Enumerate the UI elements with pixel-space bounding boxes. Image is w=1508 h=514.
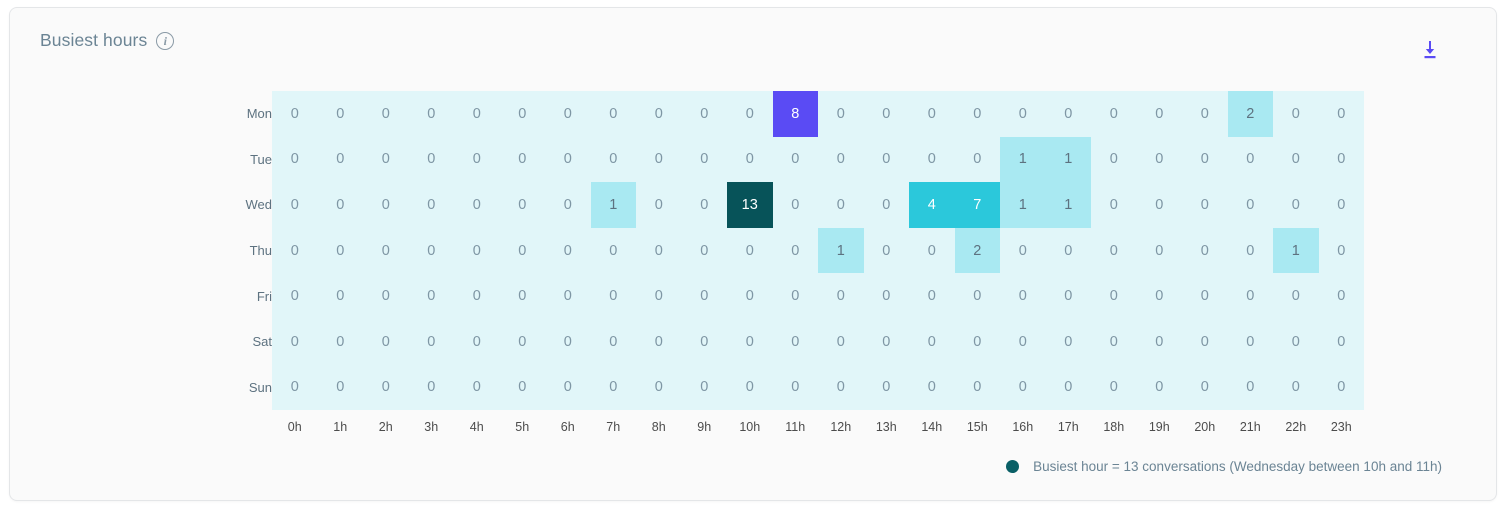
heatmap-cell[interactable]: 1 <box>591 182 637 228</box>
heatmap-row: Sat000000000000000000000000 <box>222 319 1364 365</box>
heatmap-cell[interactable]: 0 <box>682 182 728 228</box>
heatmap-cell[interactable]: 0 <box>636 365 682 411</box>
heatmap-cell[interactable]: 2 <box>1228 91 1274 137</box>
heatmap-cell[interactable]: 0 <box>363 319 409 365</box>
heatmap-cell[interactable]: 0 <box>864 228 910 274</box>
heatmap-cell[interactable]: 0 <box>682 273 728 319</box>
heatmap-cell[interactable]: 0 <box>682 365 728 411</box>
heatmap-cell[interactable]: 0 <box>545 273 591 319</box>
heatmap-cell[interactable]: 0 <box>1228 182 1274 228</box>
heatmap-cell[interactable]: 0 <box>1091 273 1137 319</box>
x-axis-tick-3h: 3h <box>409 410 455 444</box>
heatmap-cell[interactable]: 0 <box>1046 273 1092 319</box>
heatmap-cell[interactable]: 0 <box>1319 91 1365 137</box>
heatmap-cell[interactable]: 0 <box>727 91 773 137</box>
x-axis-tick-12h: 12h <box>818 410 864 444</box>
heatmap-cell[interactable]: 1 <box>1000 137 1046 183</box>
heatmap-cell[interactable]: 0 <box>1273 137 1319 183</box>
x-axis-tick-7h: 7h <box>591 410 637 444</box>
heatmap-cell[interactable]: 0 <box>682 91 728 137</box>
heatmap-cell[interactable]: 0 <box>1137 365 1183 411</box>
heatmap-cell[interactable]: 0 <box>955 319 1001 365</box>
heatmap-cell[interactable]: 0 <box>864 319 910 365</box>
heatmap-cell[interactable]: 0 <box>272 319 318 365</box>
legend-dot-icon <box>1006 460 1019 473</box>
heatmap-cell[interactable]: 0 <box>1182 182 1228 228</box>
heatmap-cell[interactable]: 0 <box>1273 319 1319 365</box>
legend-label: Busiest hour = 13 conversations (Wednesd… <box>1033 459 1442 474</box>
heatmap-cell[interactable]: 0 <box>1273 365 1319 411</box>
x-axis-tick-23h: 23h <box>1319 410 1365 444</box>
heatmap-cell[interactable]: 0 <box>818 273 864 319</box>
heatmap-cell[interactable]: 0 <box>1091 137 1137 183</box>
heatmap-cell[interactable]: 7 <box>955 182 1001 228</box>
heatmap-cell[interactable]: 0 <box>1228 137 1274 183</box>
heatmap-cell[interactable]: 0 <box>454 137 500 183</box>
heatmap-row: Fri000000000000000000000000 <box>222 273 1364 319</box>
heatmap-cell[interactable]: 0 <box>500 228 546 274</box>
heatmap-cell[interactable]: 0 <box>1228 273 1274 319</box>
heatmap-cell[interactable]: 0 <box>1273 91 1319 137</box>
row-label-wed: Wed <box>222 182 272 228</box>
heatmap-cell[interactable]: 0 <box>500 137 546 183</box>
heatmap-cell[interactable]: 0 <box>909 137 955 183</box>
heatmap-cell[interactable]: 0 <box>363 91 409 137</box>
heatmap-cell[interactable]: 1 <box>1273 228 1319 274</box>
page-title: Busiest hours <box>40 30 147 51</box>
heatmap-cell[interactable]: 0 <box>773 137 819 183</box>
heatmap-cell[interactable]: 0 <box>545 182 591 228</box>
x-axis-tick-20h: 20h <box>1182 410 1228 444</box>
heatmap-cell[interactable]: 0 <box>1000 228 1046 274</box>
heatmap-cell[interactable]: 0 <box>1228 228 1274 274</box>
heatmap-cell[interactable]: 0 <box>500 273 546 319</box>
x-axis-tick-0h: 0h <box>272 410 318 444</box>
heatmap-cell[interactable]: 0 <box>272 137 318 183</box>
x-axis-tick-16h: 16h <box>1000 410 1046 444</box>
heatmap-row: Thu000000000000100200000010 <box>222 228 1364 274</box>
heatmap-cell[interactable]: 0 <box>1000 365 1046 411</box>
heatmap-cell[interactable]: 0 <box>1273 273 1319 319</box>
heatmap-cell[interactable]: 0 <box>363 273 409 319</box>
heatmap-cell[interactable]: 0 <box>591 91 637 137</box>
heatmap-cell[interactable]: 0 <box>818 137 864 183</box>
heatmap-cell[interactable]: 0 <box>682 228 728 274</box>
heatmap-cell[interactable]: 0 <box>1091 319 1137 365</box>
row-label-sat: Sat <box>222 319 272 365</box>
heatmap-cell[interactable]: 8 <box>773 91 819 137</box>
heatmap-cell[interactable]: 0 <box>454 365 500 411</box>
card-header: Busiest hours i <box>10 8 1496 70</box>
heatmap-cell[interactable]: 0 <box>1000 91 1046 137</box>
heatmap-cell[interactable]: 0 <box>818 319 864 365</box>
heatmap-cell[interactable]: 0 <box>955 273 1001 319</box>
heatmap-cell[interactable]: 0 <box>318 137 364 183</box>
heatmap-cell[interactable]: 0 <box>1137 228 1183 274</box>
heatmap-cell[interactable]: 0 <box>1000 273 1046 319</box>
heatmap-row: Mon000000000008000000000200 <box>222 91 1364 137</box>
heatmap-cell[interactable]: 1 <box>1046 137 1092 183</box>
heatmap-chart: Mon000000000008000000000200Tue0000000000… <box>10 70 1496 450</box>
heatmap-cell[interactable]: 0 <box>545 228 591 274</box>
heatmap-cell[interactable]: 0 <box>272 91 318 137</box>
heatmap-cell[interactable]: 0 <box>727 137 773 183</box>
heatmap-cell[interactable]: 0 <box>636 182 682 228</box>
heatmap-cell[interactable]: 0 <box>409 137 455 183</box>
x-axis-tick-14h: 14h <box>909 410 955 444</box>
heatmap-cell[interactable]: 0 <box>591 228 637 274</box>
busiest-hours-card: Busiest hours i Mon000000000008000000000… <box>9 7 1497 501</box>
heatmap-cell[interactable]: 0 <box>409 91 455 137</box>
heatmap-cell[interactable]: 0 <box>864 137 910 183</box>
heatmap-cell[interactable]: 0 <box>909 228 955 274</box>
heatmap-cell[interactable]: 0 <box>636 319 682 365</box>
heatmap-cell[interactable]: 0 <box>1091 228 1137 274</box>
heatmap-cell[interactable]: 0 <box>1319 319 1365 365</box>
x-axis-tick-17h: 17h <box>1046 410 1092 444</box>
heatmap-table: Mon000000000008000000000200Tue0000000000… <box>222 91 1364 444</box>
heatmap-cell[interactable]: 0 <box>818 365 864 411</box>
heatmap-cell[interactable]: 0 <box>909 273 955 319</box>
heatmap-cell[interactable]: 0 <box>682 319 728 365</box>
x-axis-tick-4h: 4h <box>454 410 500 444</box>
heatmap-cell[interactable]: 0 <box>1319 182 1365 228</box>
heatmap-cell[interactable]: 0 <box>454 273 500 319</box>
heatmap-cell[interactable]: 0 <box>636 91 682 137</box>
heatmap-cell[interactable]: 0 <box>500 319 546 365</box>
heatmap-cell[interactable]: 0 <box>1046 91 1092 137</box>
heatmap-cell[interactable]: 0 <box>454 319 500 365</box>
heatmap-cell[interactable]: 0 <box>1182 319 1228 365</box>
heatmap-cell[interactable]: 0 <box>318 91 364 137</box>
heatmap-cell[interactable]: 0 <box>1046 228 1092 274</box>
x-axis-tick-8h: 8h <box>636 410 682 444</box>
x-axis-tick-1h: 1h <box>318 410 364 444</box>
heatmap-cell[interactable]: 0 <box>1000 319 1046 365</box>
heatmap-cell[interactable]: 0 <box>1228 365 1274 411</box>
heatmap-cell[interactable]: 0 <box>454 228 500 274</box>
heatmap-cell[interactable]: 0 <box>318 228 364 274</box>
heatmap-cell[interactable]: 0 <box>591 319 637 365</box>
heatmap-cell[interactable]: 0 <box>454 91 500 137</box>
heatmap-cell[interactable]: 0 <box>409 228 455 274</box>
heatmap-cell[interactable]: 0 <box>591 137 637 183</box>
heatmap-cell[interactable]: 0 <box>1319 137 1365 183</box>
heatmap-row: Tue000000000000000011000000 <box>222 137 1364 183</box>
heatmap-cell[interactable]: 0 <box>1091 365 1137 411</box>
title-group: Busiest hours i <box>40 30 174 51</box>
heatmap-cell[interactable]: 2 <box>955 228 1001 274</box>
heatmap-grid: Mon000000000008000000000200Tue0000000000… <box>222 91 1364 444</box>
heatmap-cell[interactable]: 0 <box>363 365 409 411</box>
heatmap-cell[interactable]: 0 <box>727 273 773 319</box>
x-axis-tick-15h: 15h <box>955 410 1001 444</box>
heatmap-cell[interactable]: 0 <box>727 319 773 365</box>
heatmap-cell[interactable]: 0 <box>864 365 910 411</box>
heatmap-cell[interactable]: 0 <box>864 182 910 228</box>
heatmap-cell[interactable]: 0 <box>1182 137 1228 183</box>
heatmap-cell[interactable]: 0 <box>1228 319 1274 365</box>
heatmap-body: Mon000000000008000000000200Tue0000000000… <box>222 91 1364 444</box>
row-label-thu: Thu <box>222 228 272 274</box>
heatmap-cell[interactable]: 0 <box>318 365 364 411</box>
x-axis-tick-21h: 21h <box>1228 410 1274 444</box>
heatmap-cell[interactable]: 0 <box>409 365 455 411</box>
heatmap-cell[interactable]: 0 <box>1046 319 1092 365</box>
heatmap-cell[interactable]: 0 <box>591 365 637 411</box>
heatmap-cell[interactable]: 13 <box>727 182 773 228</box>
row-label-tue: Tue <box>222 137 272 183</box>
x-axis-row: 0h1h2h3h4h5h6h7h8h9h10h11h12h13h14h15h16… <box>222 410 1364 444</box>
heatmap-cell[interactable]: 1 <box>818 228 864 274</box>
heatmap-cell[interactable]: 0 <box>1182 228 1228 274</box>
heatmap-cell[interactable]: 0 <box>363 137 409 183</box>
x-axis-tick-2h: 2h <box>363 410 409 444</box>
heatmap-cell[interactable]: 0 <box>500 182 546 228</box>
heatmap-row: Sun000000000000000000000000 <box>222 365 1364 411</box>
heatmap-cell[interactable]: 0 <box>318 273 364 319</box>
heatmap-cell[interactable]: 0 <box>773 365 819 411</box>
row-label-fri: Fri <box>222 273 272 319</box>
heatmap-cell[interactable]: 0 <box>1273 182 1319 228</box>
heatmap-cell[interactable]: 1 <box>1000 182 1046 228</box>
heatmap-cell[interactable]: 0 <box>636 273 682 319</box>
heatmap-cell[interactable]: 0 <box>1137 91 1183 137</box>
heatmap-cell[interactable]: 0 <box>591 273 637 319</box>
heatmap-cell[interactable]: 0 <box>1319 273 1365 319</box>
x-axis-tick-5h: 5h <box>500 410 546 444</box>
heatmap-cell[interactable]: 0 <box>409 319 455 365</box>
heatmap-cell[interactable]: 0 <box>363 228 409 274</box>
heatmap-cell[interactable]: 0 <box>272 365 318 411</box>
x-axis-tick-9h: 9h <box>682 410 728 444</box>
heatmap-cell[interactable]: 0 <box>864 273 910 319</box>
heatmap-cell[interactable]: 0 <box>272 228 318 274</box>
axis-corner <box>222 410 272 444</box>
heatmap-cell[interactable]: 0 <box>1182 365 1228 411</box>
heatmap-cell[interactable]: 0 <box>773 182 819 228</box>
heatmap-cell[interactable]: 0 <box>545 91 591 137</box>
heatmap-cell[interactable]: 0 <box>500 91 546 137</box>
heatmap-cell[interactable]: 0 <box>727 365 773 411</box>
heatmap-cell[interactable]: 0 <box>955 91 1001 137</box>
heatmap-cell[interactable]: 0 <box>1319 365 1365 411</box>
heatmap-cell[interactable]: 0 <box>1137 137 1183 183</box>
row-label-sun: Sun <box>222 365 272 411</box>
heatmap-cell[interactable]: 0 <box>1137 182 1183 228</box>
heatmap-cell[interactable]: 0 <box>864 91 910 137</box>
chart-legend: Busiest hour = 13 conversations (Wednesd… <box>1006 459 1442 474</box>
row-label-mon: Mon <box>222 91 272 137</box>
heatmap-cell[interactable]: 0 <box>318 319 364 365</box>
heatmap-cell[interactable]: 0 <box>1182 273 1228 319</box>
heatmap-cell[interactable]: 0 <box>1182 91 1228 137</box>
heatmap-cell[interactable]: 0 <box>818 182 864 228</box>
info-icon[interactable]: i <box>156 32 174 50</box>
heatmap-cell[interactable]: 0 <box>272 182 318 228</box>
x-axis-tick-11h: 11h <box>773 410 819 444</box>
heatmap-cell[interactable]: 0 <box>363 182 409 228</box>
download-icon[interactable] <box>1418 38 1442 62</box>
heatmap-cell[interactable]: 0 <box>318 182 364 228</box>
heatmap-cell[interactable]: 0 <box>545 365 591 411</box>
heatmap-cell[interactable]: 0 <box>909 319 955 365</box>
heatmap-cell[interactable]: 0 <box>1091 182 1137 228</box>
heatmap-cell[interactable]: 0 <box>272 273 318 319</box>
heatmap-cell[interactable]: 0 <box>773 228 819 274</box>
heatmap-cell[interactable]: 1 <box>1046 182 1092 228</box>
x-axis-tick-10h: 10h <box>727 410 773 444</box>
heatmap-cell[interactable]: 0 <box>955 365 1001 411</box>
heatmap-cell[interactable]: 0 <box>1319 228 1365 274</box>
heatmap-cell[interactable]: 0 <box>955 137 1001 183</box>
heatmap-cell[interactable]: 0 <box>727 228 773 274</box>
heatmap-cell[interactable]: 0 <box>1137 273 1183 319</box>
heatmap-cell[interactable]: 0 <box>409 273 455 319</box>
heatmap-cell[interactable]: 4 <box>909 182 955 228</box>
heatmap-cell[interactable]: 0 <box>909 91 955 137</box>
heatmap-row: Wed0000000100130004711000000 <box>222 182 1364 228</box>
heatmap-cell[interactable]: 0 <box>773 319 819 365</box>
heatmap-cell[interactable]: 0 <box>682 137 728 183</box>
x-axis-tick-18h: 18h <box>1091 410 1137 444</box>
heatmap-cell[interactable]: 0 <box>409 182 455 228</box>
heatmap-cell[interactable]: 0 <box>500 365 546 411</box>
x-axis-tick-13h: 13h <box>864 410 910 444</box>
heatmap-cell[interactable]: 0 <box>1137 319 1183 365</box>
heatmap-cell[interactable]: 0 <box>773 273 819 319</box>
heatmap-cell[interactable]: 0 <box>1091 91 1137 137</box>
heatmap-cell[interactable]: 0 <box>454 182 500 228</box>
heatmap-cell[interactable]: 0 <box>818 91 864 137</box>
heatmap-cell[interactable]: 0 <box>1046 365 1092 411</box>
x-axis-tick-6h: 6h <box>545 410 591 444</box>
heatmap-cell[interactable]: 0 <box>636 137 682 183</box>
x-axis-tick-19h: 19h <box>1137 410 1183 444</box>
heatmap-cell[interactable]: 0 <box>909 365 955 411</box>
heatmap-cell[interactable]: 0 <box>545 137 591 183</box>
heatmap-cell[interactable]: 0 <box>545 319 591 365</box>
x-axis-tick-22h: 22h <box>1273 410 1319 444</box>
heatmap-cell[interactable]: 0 <box>636 228 682 274</box>
